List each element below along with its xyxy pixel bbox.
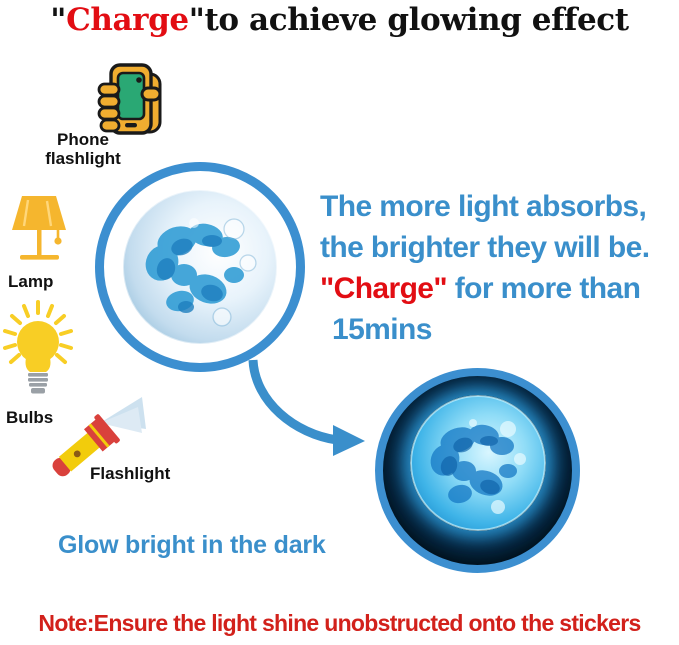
title-quote-close: "	[189, 2, 205, 38]
bottom-note: Note:Ensure the light shine unobstructed…	[0, 610, 679, 637]
title-quote-open: "	[50, 2, 66, 38]
moon-sticker-glowing-circle	[375, 368, 580, 573]
bulb-icon	[2, 300, 74, 406]
phone-flashlight-label-line2: flashlight	[45, 149, 121, 168]
body-text-line1: The more light absorbs,	[320, 190, 646, 223]
lamp-icon	[6, 192, 72, 266]
title-charge-word: Charge	[66, 2, 189, 38]
moon-sticker-glowing	[410, 395, 546, 531]
glow-caption: Glow bright in the dark	[58, 531, 326, 560]
phone-flashlight-label: Phone flashlight	[44, 130, 122, 168]
flashlight-label: Flashlight	[90, 464, 170, 483]
lamp-glyph	[6, 192, 72, 266]
moon-glow-glyph	[410, 395, 546, 531]
body-text-line2: the brighter they will be.	[320, 231, 649, 264]
body-text-quote-open: "	[320, 272, 334, 305]
body-text-line4: 15mins	[320, 309, 676, 350]
body-text-charge-word: Charge	[334, 272, 434, 305]
body-text-block: The more light absorbs, the brighter the…	[320, 186, 676, 350]
page-title: "Charge"to achieve glowing effect	[0, 2, 679, 38]
lamp-label: Lamp	[8, 272, 53, 291]
body-text-line3-rest: for more than	[447, 272, 640, 305]
infographic-page: "Charge"to achieve glowing effect Phone …	[0, 0, 679, 645]
moon-sticker-lit	[122, 189, 278, 345]
bulb-glyph	[2, 300, 74, 406]
body-text-quote-close: "	[433, 272, 447, 305]
title-rest: to achieve glowing effect	[204, 2, 628, 38]
moon-lit-glyph	[122, 189, 278, 345]
phone-flashlight-label-line1: Phone	[57, 130, 109, 149]
